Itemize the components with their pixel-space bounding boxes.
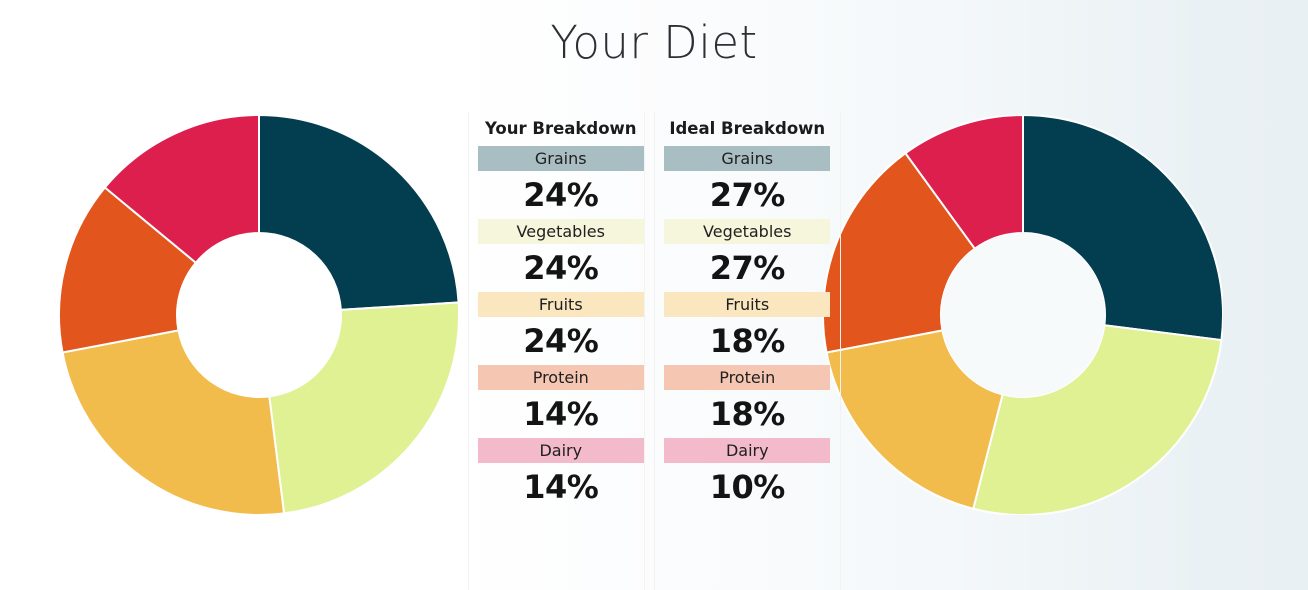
your-value-fruits: 24% xyxy=(468,317,654,365)
ideal-value-grains: 27% xyxy=(655,171,841,219)
ideal-value-vegetables: 27% xyxy=(655,244,841,292)
your-value-protein: 14% xyxy=(468,390,654,438)
app-root: Your Diet Your Breakdown Grains24%Vegeta… xyxy=(0,0,1308,590)
donut-hole xyxy=(177,233,341,397)
ideal-label-grains: Grains xyxy=(664,146,830,171)
donut-hole xyxy=(941,233,1105,397)
ideal-label-fruits: Fruits xyxy=(664,292,830,317)
your-breakdown-column: Your Breakdown Grains24%Vegetables24%Fru… xyxy=(468,112,654,590)
ideal-label-dairy: Dairy xyxy=(664,438,830,463)
ideal-label-vegetables: Vegetables xyxy=(664,219,830,244)
your-value-grains: 24% xyxy=(468,171,654,219)
your-label-dairy: Dairy xyxy=(478,438,644,463)
page-title: Your Diet xyxy=(0,16,1308,69)
ideal-value-protein: 18% xyxy=(655,390,841,438)
breakdown-table: Your Breakdown Grains24%Vegetables24%Fru… xyxy=(468,112,840,590)
ideal-breakdown-heading: Ideal Breakdown xyxy=(669,112,825,146)
ideal-value-dairy: 10% xyxy=(655,463,841,511)
your-value-dairy: 14% xyxy=(468,463,654,511)
your-label-protein: Protein xyxy=(478,365,644,390)
your-breakdown-donut-chart xyxy=(59,115,459,515)
ideal-label-protein: Protein xyxy=(664,365,830,390)
ideal-breakdown-donut-svg xyxy=(823,115,1223,515)
your-label-fruits: Fruits xyxy=(478,292,644,317)
ideal-breakdown-column: Ideal Breakdown Grains27%Vegetables27%Fr… xyxy=(654,112,841,590)
ideal-breakdown-donut-chart xyxy=(823,115,1223,515)
ideal-breakdown-rows: Grains27%Vegetables27%Fruits18%Protein18… xyxy=(655,146,841,511)
your-value-vegetables: 24% xyxy=(468,244,654,292)
your-breakdown-donut-svg xyxy=(59,115,459,515)
your-label-grains: Grains xyxy=(478,146,644,171)
your-breakdown-heading: Your Breakdown xyxy=(485,112,637,146)
your-breakdown-rows: Grains24%Vegetables24%Fruits24%Protein14… xyxy=(468,146,654,511)
panel-divider-right xyxy=(840,112,841,590)
your-label-vegetables: Vegetables xyxy=(478,219,644,244)
ideal-value-fruits: 18% xyxy=(655,317,841,365)
